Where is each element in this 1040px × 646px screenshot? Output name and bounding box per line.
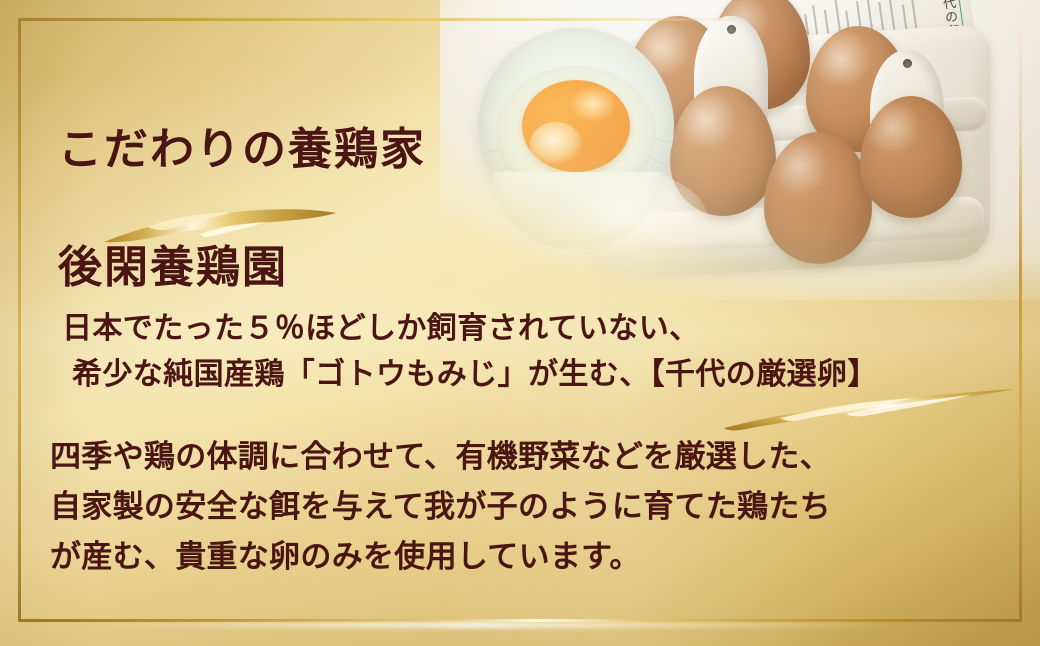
body-line-2: 自家製の安全な餌を与えて我が子のように育てた鶏たち	[50, 482, 1010, 532]
body-paragraph: 四季や鶏の体調に合わせて、有機野菜などを厳選した、 自家製の安全な餌を与えて我が…	[50, 432, 1010, 583]
promo-card: 千代の卵	[0, 0, 1040, 646]
title-line-1: こだわりの養鶏家	[58, 121, 426, 180]
secondary-plate	[540, 170, 710, 280]
body-line-3: が産む、貴重な卵のみを使用しています。	[50, 532, 1010, 582]
frame-bottom-glow	[18, 622, 1022, 628]
title-line-2: 後閑養鶏園	[58, 239, 426, 298]
lead-line-2: 希少な純国産鶏「ゴトウもみじ」が生む、【千代の厳選卵】	[62, 352, 1012, 398]
frame-left-line	[18, 18, 21, 622]
frame-bottom-line	[18, 619, 1022, 622]
egg-chalaza	[530, 122, 582, 166]
lead-line-1: 日本でたった５％ほどしか飼育されていない、	[62, 312, 700, 345]
body-line-1: 四季や鶏の体調に合わせて、有機野菜などを厳選した、	[50, 432, 1010, 482]
lead-paragraph: 日本でたった５％ほどしか飼育されていない、 希少な純国産鶏「ゴトウもみじ」が生む…	[62, 306, 1012, 397]
product-photo: 千代の卵	[440, 0, 1040, 300]
